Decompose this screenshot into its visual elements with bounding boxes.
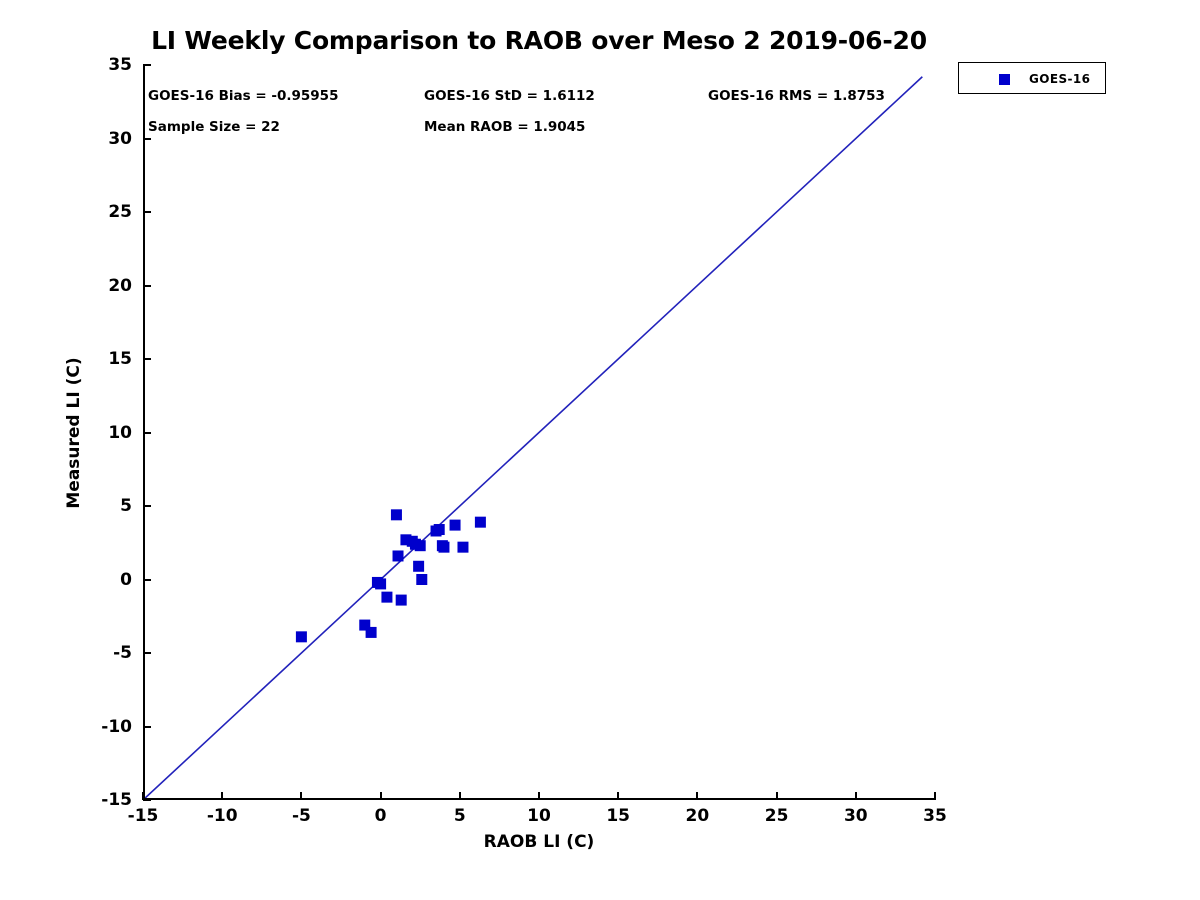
y-tick [143, 652, 151, 654]
x-tick-label: 15 [606, 806, 630, 826]
x-tick-label: 25 [765, 806, 789, 826]
x-tick-label: 20 [686, 806, 710, 826]
x-tick-label: 35 [923, 806, 947, 826]
y-tick [143, 579, 151, 581]
x-tick [459, 792, 461, 800]
y-tick-label: 20 [108, 276, 132, 296]
y-tick [143, 285, 151, 287]
y-axis-label: Measured LI (C) [64, 313, 84, 553]
y-tick [143, 211, 151, 213]
y-tick-label: 25 [108, 202, 132, 222]
x-tick [855, 792, 857, 800]
scatter-plot-figure: LI Weekly Comparison to RAOB over Meso 2… [0, 0, 1200, 900]
y-tick [143, 358, 151, 360]
axes-frame [143, 65, 935, 800]
y-tick-label: 15 [108, 349, 132, 369]
y-tick-label: 10 [108, 423, 132, 443]
x-tick [538, 792, 540, 800]
y-tick [143, 726, 151, 728]
x-tick [617, 792, 619, 800]
y-tick [143, 799, 151, 801]
y-tick [143, 432, 151, 434]
x-axis-label: RAOB LI (C) [143, 832, 935, 852]
x-tick-label: 5 [454, 806, 466, 826]
y-tick-label: 30 [108, 129, 132, 149]
y-tick [143, 138, 151, 140]
x-tick [776, 792, 778, 800]
page-title: LI Weekly Comparison to RAOB over Meso 2… [143, 26, 935, 55]
legend-marker-icon [999, 74, 1010, 85]
x-tick [696, 792, 698, 800]
y-tick-label: -10 [101, 717, 132, 737]
x-tick-label: 0 [375, 806, 387, 826]
x-tick [221, 792, 223, 800]
y-tick [143, 64, 151, 66]
plot-area [143, 65, 935, 800]
x-tick [934, 792, 936, 800]
y-tick [143, 505, 151, 507]
x-tick [380, 792, 382, 800]
x-tick-label: -5 [292, 806, 311, 826]
y-tick-label: 5 [120, 496, 132, 516]
x-tick [300, 792, 302, 800]
x-tick-label: -10 [207, 806, 238, 826]
y-tick-label: -15 [101, 790, 132, 810]
x-tick-label: 30 [844, 806, 868, 826]
legend-label: GOES-16 [1029, 72, 1090, 86]
y-tick-label: 35 [108, 55, 132, 75]
x-tick-label: 10 [527, 806, 551, 826]
y-tick-label: -5 [113, 643, 132, 663]
legend: GOES-16 [958, 62, 1106, 94]
y-tick-label: 0 [120, 570, 132, 590]
x-tick-label: -15 [128, 806, 159, 826]
